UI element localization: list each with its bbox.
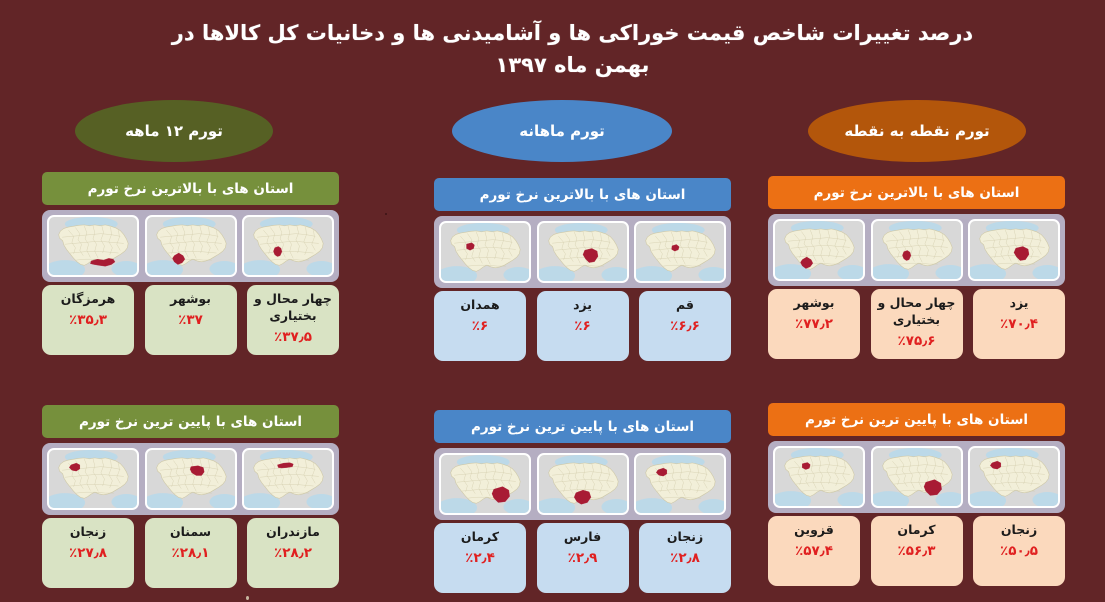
map-strip <box>434 448 731 520</box>
iran-map-icon <box>242 448 334 510</box>
province-cell: بوشهر٪۳۷ <box>145 285 237 355</box>
province-cell: چهار محال و بختیاری٪۷۵٫۶ <box>871 289 963 359</box>
iran-map-icon <box>145 448 237 510</box>
province-cell: زنجان٪۲۷٫۸ <box>42 518 134 588</box>
iran-map-icon <box>439 221 531 283</box>
iran-map-icon <box>47 448 139 510</box>
province-name: مازندران <box>266 524 320 541</box>
column-heading-point_to_point: تورم نقطه به نقطه <box>808 100 1026 162</box>
province-cell: سمنان٪۲۸٫۱ <box>145 518 237 588</box>
column-heading-monthly: تورم ماهانه <box>452 100 672 162</box>
iran-map-icon <box>634 221 726 283</box>
province-cell: قم٪۶٫۶ <box>639 291 731 361</box>
province-cell: هرمزگان٪۳۵٫۳ <box>42 285 134 355</box>
province-value: ٪۷۰٫۴ <box>1000 316 1038 332</box>
province-name: زنجان <box>70 524 106 541</box>
map-strip <box>768 214 1065 286</box>
province-value: ٪۷۷٫۲ <box>795 316 833 332</box>
province-value: ٪۳۵٫۳ <box>69 312 107 328</box>
province-name: فارس <box>564 529 601 546</box>
province-cell: چهار محال و بختیاری٪۳۷٫۵ <box>247 285 339 355</box>
province-value: ٪۲۸٫۱ <box>172 545 210 561</box>
iran-map-icon <box>968 219 1060 281</box>
column-heading-twelve_month: تورم ۱۲ ماهه <box>75 100 273 162</box>
province-value: ٪۶ <box>472 318 488 334</box>
iran-map-icon <box>773 446 865 508</box>
province-cell: مازندران٪۲۸٫۲ <box>247 518 339 588</box>
province-name: چهار محال و بختیاری <box>250 291 336 325</box>
value-cells: زنجان٪۵۰٫۵کرمان٪۵۶٫۳قزوین٪۵۷٫۴ <box>768 516 1065 586</box>
section-monthly-highest: استان های با بالاترین نرخ تورم <box>434 178 731 361</box>
province-name: بوشهر <box>170 291 211 308</box>
province-value: ٪۶٫۶ <box>670 318 700 334</box>
province-value: ٪۲۷٫۸ <box>69 545 107 561</box>
band-label-lowest: استان های با پایین ترین نرخ تورم <box>434 410 731 443</box>
province-cell: یزد٪۶ <box>537 291 629 361</box>
column-heading-wrap: تورم ماهانه <box>382 100 722 168</box>
province-cell: زنجان٪۵۰٫۵ <box>973 516 1065 586</box>
province-value: ٪۲٫۸ <box>670 550 700 566</box>
iran-map-icon <box>242 215 334 277</box>
value-cells: زنجان٪۲٫۸فارس٪۲٫۹کرمان٪۲٫۴ <box>434 523 731 593</box>
iran-map-icon <box>47 215 139 277</box>
province-name: سمنان <box>170 524 211 541</box>
section-point_to_point-highest: استان های با بالاترین نرخ تورم <box>768 176 1065 359</box>
band-label-highest: استان های با بالاترین نرخ تورم <box>768 176 1065 209</box>
province-value: ٪۳۷٫۵ <box>274 329 312 345</box>
value-cells: قم٪۶٫۶یزد٪۶همدان٪۶ <box>434 291 731 361</box>
province-name: زنجان <box>667 529 703 546</box>
section-point_to_point-lowest: استان های با پایین ترین نرخ تورم <box>768 403 1065 586</box>
band-label-highest: استان های با بالاترین نرخ تورم <box>434 178 731 211</box>
section-twelve_month-highest: استان های با بالاترین نرخ تورم <box>42 172 339 355</box>
band-label-lowest: استان های با پایین ترین نرخ تورم <box>42 405 339 438</box>
iran-map-icon <box>871 446 963 508</box>
province-name: همدان <box>460 297 499 314</box>
province-name: کرمان <box>461 529 499 546</box>
iran-map-icon <box>537 221 629 283</box>
iran-map-icon <box>871 219 963 281</box>
page-title: درصد تغییرات شاخص قیمت خوراکی ها و آشامی… <box>150 18 995 81</box>
province-cell: زنجان٪۲٫۸ <box>639 523 731 593</box>
province-value: ٪۲٫۹ <box>568 550 598 566</box>
map-strip <box>768 441 1065 513</box>
iran-map-icon <box>439 453 531 515</box>
column-heading-wrap: تورم نقطه به نقطه <box>730 100 1070 168</box>
province-value: ٪۵۰٫۵ <box>1000 543 1038 559</box>
infographic-page: درصد تغییرات شاخص قیمت خوراکی ها و آشامی… <box>0 0 1105 602</box>
province-name: هرمزگان <box>61 291 116 308</box>
province-cell: کرمان٪۵۶٫۳ <box>871 516 963 586</box>
artifact-speck-bottom <box>246 596 249 600</box>
province-value: ٪۲۸٫۲ <box>274 545 312 561</box>
band-label-highest: استان های با بالاترین نرخ تورم <box>42 172 339 205</box>
iran-map-icon <box>537 453 629 515</box>
province-cell: کرمان٪۲٫۴ <box>434 523 526 593</box>
map-strip <box>42 210 339 282</box>
artifact-speck <box>385 213 387 215</box>
value-cells: مازندران٪۲۸٫۲سمنان٪۲۸٫۱زنجان٪۲۷٫۸ <box>42 518 339 588</box>
province-value: ٪۵۷٫۴ <box>795 543 833 559</box>
band-label-lowest: استان های با پایین ترین نرخ تورم <box>768 403 1065 436</box>
iran-map-icon <box>634 453 726 515</box>
province-value: ٪۳۷ <box>178 312 203 328</box>
iran-map-icon <box>968 446 1060 508</box>
column-point-to-point: تورم نقطه به نقطهاستان های با بالاترین ن… <box>730 100 1070 168</box>
province-name: چهار محال و بختیاری <box>874 295 960 329</box>
section-monthly-lowest: استان های با پایین ترین نرخ تورم <box>434 410 731 593</box>
province-cell: همدان٪۶ <box>434 291 526 361</box>
province-cell: قزوین٪۵۷٫۴ <box>768 516 860 586</box>
province-name: بوشهر <box>794 295 835 312</box>
province-cell: یزد٪۷۰٫۴ <box>973 289 1065 359</box>
column-monthly: تورم ماهانهاستان های با بالاترین نرخ تور… <box>382 100 722 168</box>
province-value: ٪۲٫۴ <box>465 550 495 566</box>
column-twelve-month: تورم ۱۲ ماههاستان های با بالاترین نرخ تو… <box>20 100 360 168</box>
column-heading-wrap: تورم ۱۲ ماهه <box>20 100 360 168</box>
map-strip <box>42 443 339 515</box>
province-value: ٪۵۶٫۳ <box>898 543 936 559</box>
province-cell: فارس٪۲٫۹ <box>537 523 629 593</box>
province-name: یزد <box>573 297 592 314</box>
province-name: زنجان <box>1001 522 1037 539</box>
iran-map-icon <box>145 215 237 277</box>
province-value: ٪۷۵٫۶ <box>898 333 936 349</box>
value-cells: چهار محال و بختیاری٪۳۷٫۵بوشهر٪۳۷هرمزگان٪… <box>42 285 339 355</box>
province-name: قم <box>676 297 694 314</box>
province-name: کرمان <box>897 522 935 539</box>
map-strip <box>434 216 731 288</box>
province-cell: بوشهر٪۷۷٫۲ <box>768 289 860 359</box>
province-name: قزوین <box>794 522 834 539</box>
province-name: یزد <box>1010 295 1029 312</box>
section-twelve_month-lowest: استان های با پایین ترین نرخ تورم <box>42 405 339 588</box>
province-value: ٪۶ <box>574 318 590 334</box>
iran-map-icon <box>773 219 865 281</box>
value-cells: یزد٪۷۰٫۴چهار محال و بختیاری٪۷۵٫۶بوشهر٪۷۷… <box>768 289 1065 359</box>
